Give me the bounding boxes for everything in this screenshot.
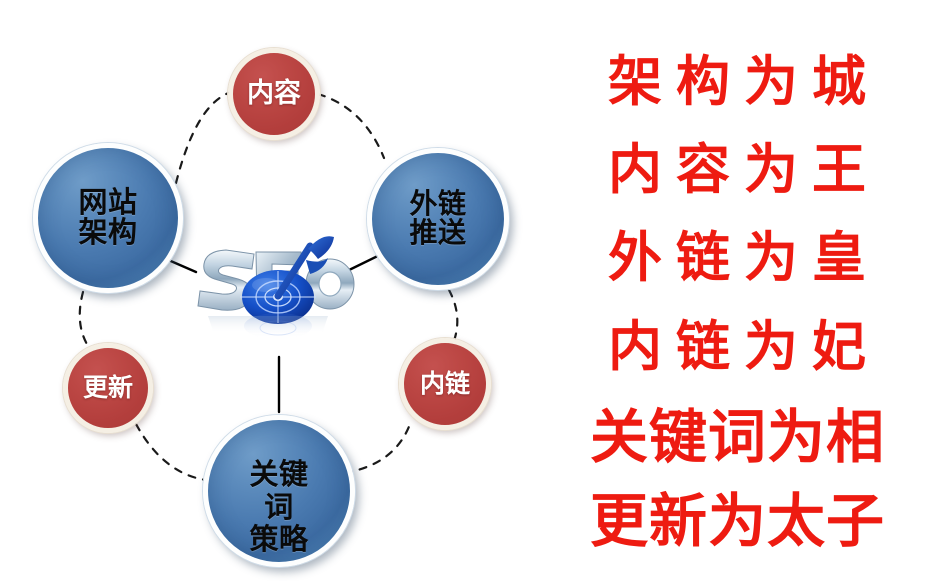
node-update[interactable]: 更新 (63, 343, 153, 433)
node-outbound-link-push-label: 外链 推送 (409, 190, 466, 247)
node-content-label: 内容 (247, 80, 301, 108)
dashed-arc-update-to-keyword (136, 424, 216, 481)
slogan-line-4: 内链为妃 (528, 320, 946, 374)
dashed-arc-structure-to-content (176, 92, 231, 183)
node-internal-link[interactable]: 内链 (399, 338, 491, 430)
slogan-line-2: 内容为王 (528, 143, 946, 197)
dashed-arc-keyword-to-inlink (345, 424, 410, 473)
node-internal-link-label: 内链 (420, 371, 470, 397)
node-website-structure-label: 网站 架构 (78, 188, 137, 247)
slogan-panel: 架构为城 内容为王 外链为皇 内链为妃 关键词为相 更新为太子 (528, 0, 946, 581)
slogan-line-6: 更新为太子 (528, 492, 946, 550)
seo-infographic-page: 内容 网站 架构 外链 推送 更新 内链 关键 词 策略 (0, 0, 946, 581)
node-update-label: 更新 (83, 375, 133, 401)
node-outbound-link-push[interactable]: 外链 推送 (367, 148, 509, 290)
slogan-line-5: 关键词为相 (528, 408, 946, 466)
node-keyword-strategy-label: 关键 词 策略 (249, 458, 308, 555)
dashed-arc-content-to-outlink (318, 94, 384, 158)
node-keyword-strategy[interactable]: 关键 词 策略 (203, 415, 355, 567)
seo-reflection (208, 313, 328, 339)
slogan-line-1: 架构为城 (528, 55, 946, 109)
node-website-structure[interactable]: 网站 架构 (33, 143, 183, 293)
node-content[interactable]: 内容 (228, 48, 320, 140)
slogan-line-3: 外链为皇 (528, 231, 946, 285)
seo-cycle-diagram: 内容 网站 架构 外链 推送 更新 内链 关键 词 策略 (0, 0, 530, 581)
seo-target-dart-icon (182, 216, 362, 346)
dashed-arc-structure-to-update (80, 292, 90, 349)
